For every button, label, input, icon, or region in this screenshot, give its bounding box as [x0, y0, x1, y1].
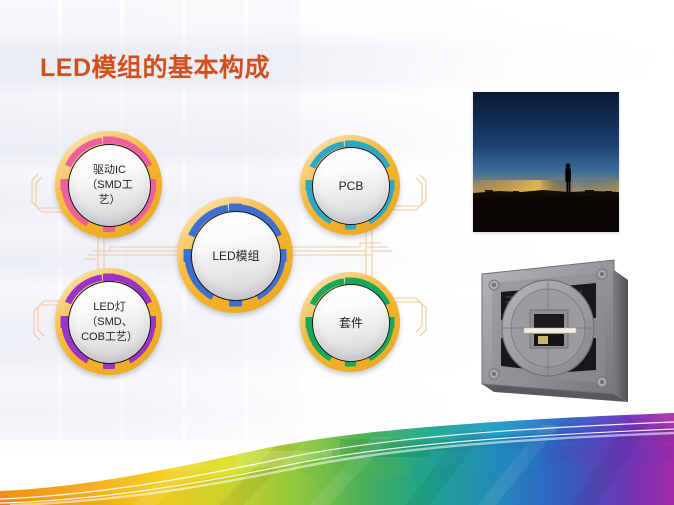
pcb-label: PCB	[331, 178, 372, 195]
led-lamp-label: LED灯 （SMD、 COB工艺）	[73, 300, 146, 346]
slide-canvas: LED模组的基本构成	[0, 0, 674, 505]
diagram-node-led-lamp[interactable]: LED灯 （SMD、 COB工艺）	[55, 268, 162, 375]
center-disc: LED模组	[191, 211, 281, 301]
driver-ic-label: 驱动IC （SMD工 艺）	[78, 163, 140, 209]
sunset-silhouette-photo	[473, 92, 619, 232]
rainbow-wave-decoration	[0, 395, 674, 505]
center-label: LED模组	[204, 248, 267, 265]
diagram-node-kit[interactable]: 套件	[300, 272, 400, 372]
kit-disc: 套件	[312, 284, 390, 362]
pcb-disc: PCB	[312, 147, 390, 225]
diagram-node-driver-ic[interactable]: 驱动IC （SMD工 艺）	[55, 131, 162, 238]
diagram-node-pcb[interactable]: PCB	[300, 135, 400, 235]
led-lamp-disc: LED灯 （SMD、 COB工艺）	[68, 281, 151, 364]
kit-label: 套件	[331, 315, 371, 332]
diagram-node-center[interactable]: LED模组	[177, 197, 293, 313]
driver-ic-disc: 驱动IC （SMD工 艺）	[68, 144, 151, 227]
diagram-container: LED模组	[0, 0, 460, 420]
